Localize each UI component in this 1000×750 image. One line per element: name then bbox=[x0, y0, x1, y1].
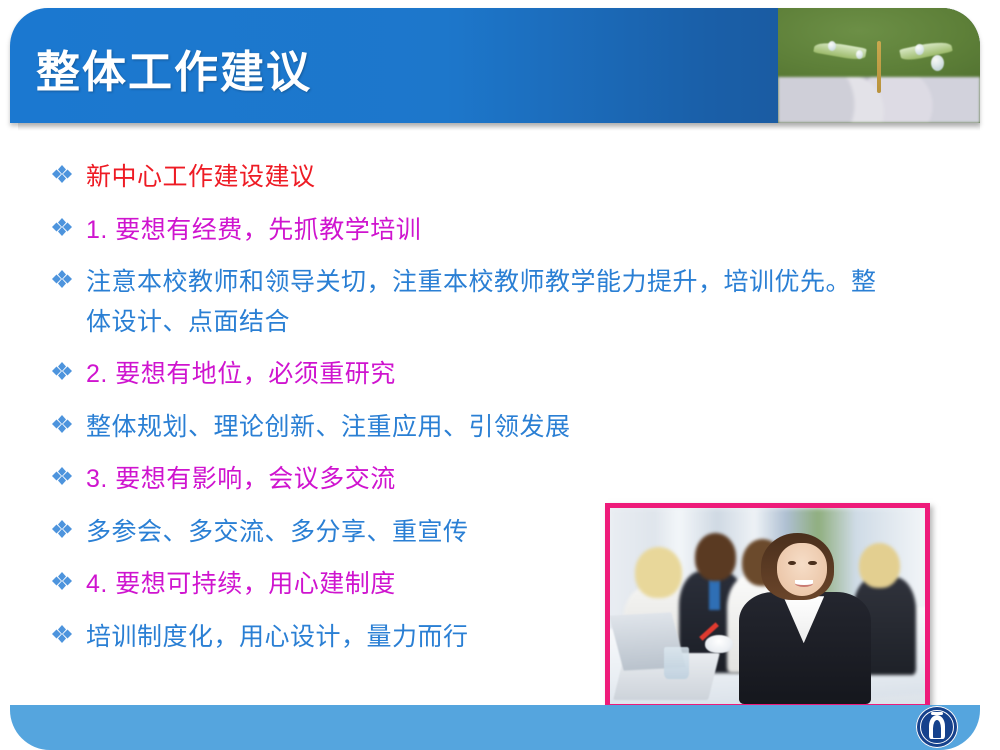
water-drop-icon bbox=[856, 50, 863, 59]
diamond-bullet-icon bbox=[52, 408, 86, 434]
presentation-slide: 整体工作建议 新中心工作建设建议 bbox=[0, 0, 1000, 750]
diamond-bullet-icon bbox=[52, 565, 86, 591]
list-item: 整体规划、理论创新、注重应用、引领发展 bbox=[52, 408, 952, 448]
seedling-photo bbox=[778, 8, 980, 123]
diamond-bullet-icon bbox=[52, 211, 86, 237]
slide-title: 整体工作建议 bbox=[36, 36, 312, 100]
institution-logo-icon bbox=[916, 706, 958, 748]
list-item: 注意本校教师和领导关切，注重本校教师教学能力提升，培训优先。整体设计、点面结合 bbox=[52, 263, 952, 342]
photo-person-head bbox=[859, 543, 900, 588]
photo-foreground-person-eye bbox=[808, 561, 816, 565]
logo-emblem-inner-shape bbox=[933, 720, 941, 738]
photo-water-glass bbox=[664, 647, 689, 678]
water-drop-icon bbox=[828, 41, 836, 51]
list-item-label: 4. 要想可持续，用心建制度 bbox=[86, 565, 396, 605]
diamond-bullet-icon bbox=[52, 355, 86, 381]
list-item-label: 1. 要想有经费，先抓教学培训 bbox=[86, 211, 421, 251]
list-item: 3. 要想有影响，会议多交流 bbox=[52, 460, 952, 500]
diamond-bullet-icon bbox=[52, 513, 86, 539]
list-item: 新中心工作建设建议 bbox=[52, 158, 952, 198]
photo-person-head bbox=[635, 547, 682, 598]
photo-person-head bbox=[695, 533, 736, 580]
diamond-bullet-icon bbox=[52, 263, 86, 289]
list-item-label: 培训制度化，用心设计，量力而行 bbox=[86, 618, 469, 658]
list-item-label: 多参会、多交流、多分享、重宣传 bbox=[86, 513, 469, 553]
list-item-label: 注意本校教师和领导关切，注重本校教师教学能力提升，培训优先。整体设计、点面结合 bbox=[86, 263, 886, 342]
list-item-label: 3. 要想有影响，会议多交流 bbox=[86, 460, 396, 500]
diamond-bullet-icon bbox=[52, 158, 86, 184]
water-drop-icon bbox=[915, 44, 924, 55]
water-drop-icon bbox=[931, 55, 944, 71]
diamond-bullet-icon bbox=[52, 460, 86, 486]
photo-coffee-cup bbox=[705, 635, 733, 653]
diamond-bullet-icon bbox=[52, 618, 86, 644]
business-meeting-photo bbox=[605, 503, 930, 709]
slide-footer-band bbox=[10, 705, 980, 750]
list-item: 2. 要想有地位，必须重研究 bbox=[52, 355, 952, 395]
list-item-label: 整体规划、理论创新、注重应用、引领发展 bbox=[86, 408, 571, 448]
list-item-label: 新中心工作建设建议 bbox=[86, 158, 316, 198]
seedling-stem bbox=[877, 41, 881, 93]
photo-necktie bbox=[709, 579, 720, 610]
list-item-label: 2. 要想有地位，必须重研究 bbox=[86, 355, 396, 395]
list-item: 1. 要想有经费，先抓教学培训 bbox=[52, 211, 952, 251]
header-divider bbox=[18, 123, 980, 131]
business-meeting-photo-content bbox=[610, 508, 925, 704]
